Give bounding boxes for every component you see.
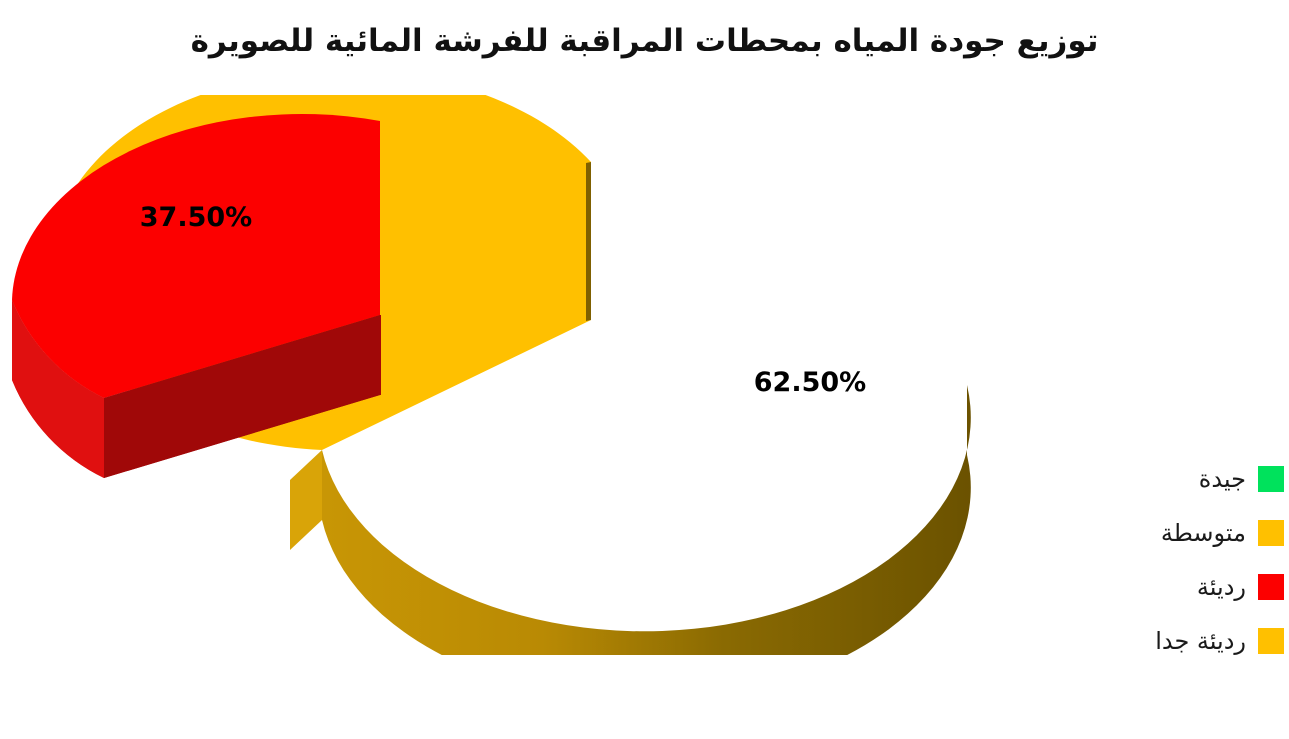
pie-slice-amber-cut-edge [586, 162, 591, 321]
pie-plot-area: 62.50% 37.50% [0, 95, 1030, 655]
pie-slice-red-value-label: 37.50% [140, 202, 252, 233]
legend-item-jayida[interactable]: جيدة [1048, 462, 1284, 496]
legend-label-mutawassita: متوسطة [1161, 520, 1246, 546]
legend-swatch-amber2-icon [1258, 628, 1284, 654]
legend-label-radia: رديئة [1197, 574, 1246, 600]
legend-item-mutawassita[interactable]: متوسطة [1048, 516, 1284, 550]
legend-swatch-red-icon [1258, 574, 1284, 600]
pie-slice-amber-side-wall [322, 385, 971, 655]
legend-label-radia-jiddan: رديئة جدا [1155, 628, 1246, 654]
legend-swatch-green-icon [1258, 466, 1284, 492]
legend-label-jayida: جيدة [1199, 466, 1246, 492]
chart-canvas: توزيع جودة المياه بمحطات المراقبة للفرشة… [0, 0, 1289, 739]
pie-slice-amber-value-label: 62.50% [754, 367, 866, 398]
legend-swatch-amber-icon [1258, 520, 1284, 546]
chart-legend: جيدة متوسطة رديئة رديئة جدا [1048, 462, 1284, 658]
legend-item-radia[interactable]: رديئة [1048, 570, 1284, 604]
pie-chart-svg: 62.50% 37.50% [0, 95, 1030, 655]
legend-item-radia-jiddan[interactable]: رديئة جدا [1048, 624, 1284, 658]
pie-slice-red-right-wall [380, 315, 381, 395]
chart-title: توزيع جودة المياه بمحطات المراقبة للفرشة… [0, 22, 1289, 61]
pie-slice-amber-radial-face [290, 450, 322, 550]
